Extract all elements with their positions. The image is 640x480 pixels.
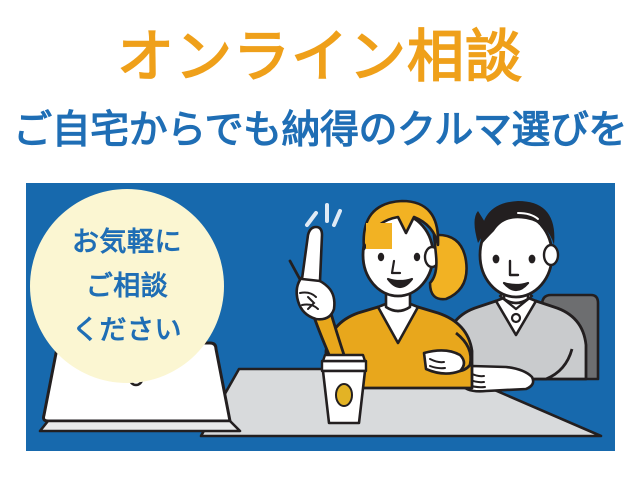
illustration-panel: お気軽に ご相談 ください [26, 183, 615, 451]
coffee-cup-shape [322, 355, 366, 423]
page-title: オンライン相談 [0, 26, 640, 88]
woman-figure [290, 201, 472, 388]
page-subtitle: ご自宅からでも納得のクルマ選びを [0, 108, 640, 154]
consultation-badge: お気軽に ご相談 ください [30, 189, 224, 383]
badge-line-3: ください [72, 308, 182, 352]
badge-text-block: お気軽に ご相談 ください [30, 189, 224, 383]
badge-line-1: お気軽に [72, 220, 182, 264]
badge-line-2: ご相談 [86, 264, 169, 308]
online-consultation-banner: オンライン相談 ご自宅からでも納得のクルマ選びを [0, 0, 640, 480]
sparkle-icon [307, 205, 340, 225]
